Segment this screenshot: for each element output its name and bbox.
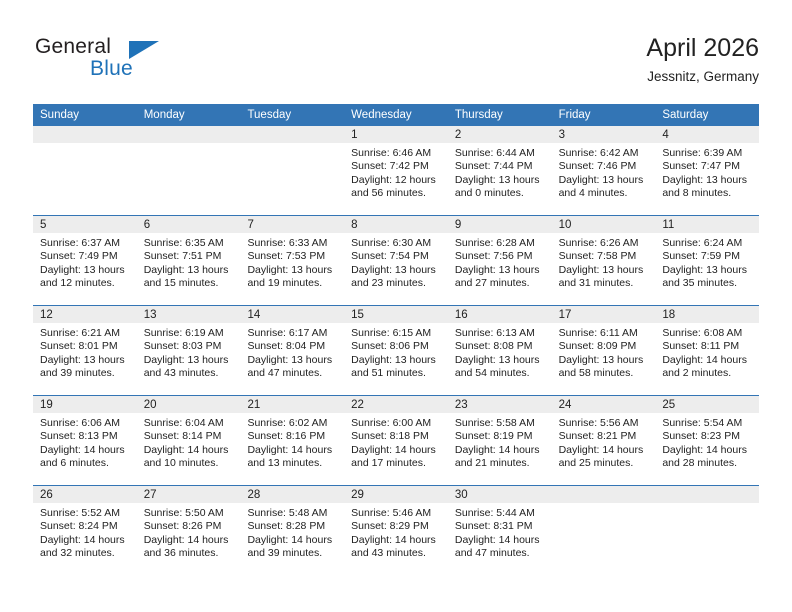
sunset-text: Sunset: 8:06 PM — [351, 340, 442, 353]
sunrise-text: Sunrise: 5:58 AM — [455, 417, 546, 430]
day-cell[interactable] — [552, 486, 656, 575]
sunset-text: Sunset: 8:09 PM — [559, 340, 650, 353]
daylight-text-line2: and 32 minutes. — [40, 547, 131, 560]
sunset-text: Sunset: 8:21 PM — [559, 430, 650, 443]
daylight-text-line2: and 36 minutes. — [144, 547, 235, 560]
sunset-text: Sunset: 7:51 PM — [144, 250, 235, 263]
daylight-text-line2: and 51 minutes. — [351, 367, 442, 380]
sunrise-text: Sunrise: 6:08 AM — [662, 327, 753, 340]
daylight-text-line2: and 56 minutes. — [351, 187, 442, 200]
day-details: Sunrise: 5:50 AM Sunset: 8:26 PM Dayligh… — [137, 503, 241, 561]
day-details: Sunrise: 5:52 AM Sunset: 8:24 PM Dayligh… — [33, 503, 137, 561]
daylight-text-line2: and 54 minutes. — [455, 367, 546, 380]
day-details — [655, 503, 759, 507]
daylight-text-line2: and 4 minutes. — [559, 187, 650, 200]
day-details — [552, 503, 656, 507]
day-details: Sunrise: 5:54 AM Sunset: 8:23 PM Dayligh… — [655, 413, 759, 471]
daylight-text-line1: Daylight: 13 hours — [40, 264, 131, 277]
day-details: Sunrise: 6:21 AM Sunset: 8:01 PM Dayligh… — [33, 323, 137, 381]
day-cell[interactable]: 16 Sunrise: 6:13 AM Sunset: 8:08 PM Dayl… — [448, 306, 552, 395]
sunrise-text: Sunrise: 6:06 AM — [40, 417, 131, 430]
daylight-text-line1: Daylight: 14 hours — [351, 534, 442, 547]
daylight-text-line1: Daylight: 13 hours — [40, 354, 131, 367]
day-details: Sunrise: 6:35 AM Sunset: 7:51 PM Dayligh… — [137, 233, 241, 291]
daylight-text-line2: and 2 minutes. — [662, 367, 753, 380]
day-number: 30 — [448, 486, 552, 503]
day-cell[interactable]: 28 Sunrise: 5:48 AM Sunset: 8:28 PM Dayl… — [240, 486, 344, 575]
day-cell[interactable]: 17 Sunrise: 6:11 AM Sunset: 8:09 PM Dayl… — [552, 306, 656, 395]
page-header: General Blue April 2026 Jessnitz, German… — [33, 33, 759, 95]
day-details: Sunrise: 6:26 AM Sunset: 7:58 PM Dayligh… — [552, 233, 656, 291]
daylight-text-line2: and 10 minutes. — [144, 457, 235, 470]
sunset-text: Sunset: 8:04 PM — [247, 340, 338, 353]
day-number — [655, 486, 759, 503]
daylight-text-line2: and 21 minutes. — [455, 457, 546, 470]
day-number: 14 — [240, 306, 344, 323]
weekday-header-monday: Monday — [137, 104, 241, 126]
sunrise-text: Sunrise: 6:33 AM — [247, 237, 338, 250]
sunrise-text: Sunrise: 6:35 AM — [144, 237, 235, 250]
page-subtitle: Jessnitz, Germany — [646, 67, 759, 87]
day-cell[interactable]: 29 Sunrise: 5:46 AM Sunset: 8:29 PM Dayl… — [344, 486, 448, 575]
sunset-text: Sunset: 8:01 PM — [40, 340, 131, 353]
day-details: Sunrise: 5:48 AM Sunset: 8:28 PM Dayligh… — [240, 503, 344, 561]
daylight-text-line2: and 39 minutes. — [247, 547, 338, 560]
sunrise-text: Sunrise: 6:00 AM — [351, 417, 442, 430]
title-block: April 2026 Jessnitz, Germany — [646, 33, 759, 87]
day-cell[interactable]: 15 Sunrise: 6:15 AM Sunset: 8:06 PM Dayl… — [344, 306, 448, 395]
sunrise-text: Sunrise: 6:21 AM — [40, 327, 131, 340]
sunrise-text: Sunrise: 6:37 AM — [40, 237, 131, 250]
day-details: Sunrise: 5:58 AM Sunset: 8:19 PM Dayligh… — [448, 413, 552, 471]
week-row: 26 Sunrise: 5:52 AM Sunset: 8:24 PM Dayl… — [33, 485, 759, 575]
sunrise-text: Sunrise: 5:56 AM — [559, 417, 650, 430]
daylight-text-line1: Daylight: 14 hours — [662, 444, 753, 457]
sunrise-text: Sunrise: 6:28 AM — [455, 237, 546, 250]
sunrise-text: Sunrise: 6:19 AM — [144, 327, 235, 340]
sunrise-text: Sunrise: 6:46 AM — [351, 147, 442, 160]
sunset-text: Sunset: 8:29 PM — [351, 520, 442, 533]
day-cell[interactable]: 22 Sunrise: 6:00 AM Sunset: 8:18 PM Dayl… — [344, 396, 448, 485]
day-number: 4 — [655, 126, 759, 143]
day-cell[interactable]: 8 Sunrise: 6:30 AM Sunset: 7:54 PM Dayli… — [344, 216, 448, 305]
day-cell[interactable] — [33, 126, 137, 215]
sunrise-text: Sunrise: 6:39 AM — [662, 147, 753, 160]
day-number: 23 — [448, 396, 552, 413]
sunset-text: Sunset: 8:31 PM — [455, 520, 546, 533]
day-number: 22 — [344, 396, 448, 413]
daylight-text-line1: Daylight: 14 hours — [455, 444, 546, 457]
day-number: 25 — [655, 396, 759, 413]
day-number: 20 — [137, 396, 241, 413]
day-details: Sunrise: 6:28 AM Sunset: 7:56 PM Dayligh… — [448, 233, 552, 291]
day-cell[interactable]: 27 Sunrise: 5:50 AM Sunset: 8:26 PM Dayl… — [137, 486, 241, 575]
daylight-text-line1: Daylight: 13 hours — [559, 174, 650, 187]
sunrise-text: Sunrise: 6:24 AM — [662, 237, 753, 250]
calendar-grid: Sunday Monday Tuesday Wednesday Thursday… — [33, 104, 759, 575]
week-row: 12 Sunrise: 6:21 AM Sunset: 8:01 PM Dayl… — [33, 305, 759, 395]
daylight-text-line1: Daylight: 14 hours — [351, 444, 442, 457]
sunset-text: Sunset: 8:18 PM — [351, 430, 442, 443]
day-details: Sunrise: 6:00 AM Sunset: 8:18 PM Dayligh… — [344, 413, 448, 471]
day-details — [240, 143, 344, 147]
day-number: 9 — [448, 216, 552, 233]
sunset-text: Sunset: 7:56 PM — [455, 250, 546, 263]
sunset-text: Sunset: 7:54 PM — [351, 250, 442, 263]
daylight-text-line1: Daylight: 13 hours — [662, 174, 753, 187]
day-details: Sunrise: 6:42 AM Sunset: 7:46 PM Dayligh… — [552, 143, 656, 201]
calendar-page: General Blue April 2026 Jessnitz, German… — [0, 0, 792, 612]
sunset-text: Sunset: 8:11 PM — [662, 340, 753, 353]
daylight-text-line1: Daylight: 14 hours — [247, 534, 338, 547]
sunrise-text: Sunrise: 6:42 AM — [559, 147, 650, 160]
day-number: 17 — [552, 306, 656, 323]
day-details: Sunrise: 6:24 AM Sunset: 7:59 PM Dayligh… — [655, 233, 759, 291]
weekday-header-tuesday: Tuesday — [240, 104, 344, 126]
weekday-header-row: Sunday Monday Tuesday Wednesday Thursday… — [33, 104, 759, 126]
daylight-text-line2: and 0 minutes. — [455, 187, 546, 200]
day-number: 18 — [655, 306, 759, 323]
day-cell[interactable]: 18 Sunrise: 6:08 AM Sunset: 8:11 PM Dayl… — [655, 306, 759, 395]
day-cell[interactable]: 3 Sunrise: 6:42 AM Sunset: 7:46 PM Dayli… — [552, 126, 656, 215]
daylight-text-line2: and 28 minutes. — [662, 457, 753, 470]
daylight-text-line2: and 15 minutes. — [144, 277, 235, 290]
day-cell[interactable]: 7 Sunrise: 6:33 AM Sunset: 7:53 PM Dayli… — [240, 216, 344, 305]
sunrise-text: Sunrise: 6:11 AM — [559, 327, 650, 340]
day-details — [137, 143, 241, 147]
sunrise-text: Sunrise: 5:46 AM — [351, 507, 442, 520]
daylight-text-line1: Daylight: 14 hours — [455, 534, 546, 547]
sunset-text: Sunset: 7:49 PM — [40, 250, 131, 263]
day-cell[interactable]: 20 Sunrise: 6:04 AM Sunset: 8:14 PM Dayl… — [137, 396, 241, 485]
day-cell[interactable]: 21 Sunrise: 6:02 AM Sunset: 8:16 PM Dayl… — [240, 396, 344, 485]
sunset-text: Sunset: 8:16 PM — [247, 430, 338, 443]
day-number: 28 — [240, 486, 344, 503]
day-cell[interactable] — [655, 486, 759, 575]
day-cell[interactable]: 24 Sunrise: 5:56 AM Sunset: 8:21 PM Dayl… — [552, 396, 656, 485]
day-cell[interactable]: 30 Sunrise: 5:44 AM Sunset: 8:31 PM Dayl… — [448, 486, 552, 575]
daylight-text-line1: Daylight: 13 hours — [351, 264, 442, 277]
day-cell[interactable] — [240, 126, 344, 215]
day-details: Sunrise: 6:30 AM Sunset: 7:54 PM Dayligh… — [344, 233, 448, 291]
day-details: Sunrise: 6:11 AM Sunset: 8:09 PM Dayligh… — [552, 323, 656, 381]
weekday-header-saturday: Saturday — [655, 104, 759, 126]
day-details: Sunrise: 6:13 AM Sunset: 8:08 PM Dayligh… — [448, 323, 552, 381]
week-row: 1 Sunrise: 6:46 AM Sunset: 7:42 PM Dayli… — [33, 126, 759, 215]
day-number: 12 — [33, 306, 137, 323]
daylight-text-line1: Daylight: 13 hours — [455, 264, 546, 277]
daylight-text-line1: Daylight: 13 hours — [559, 264, 650, 277]
sunset-text: Sunset: 8:13 PM — [40, 430, 131, 443]
day-cell[interactable]: 4 Sunrise: 6:39 AM Sunset: 7:47 PM Dayli… — [655, 126, 759, 215]
sunrise-text: Sunrise: 5:52 AM — [40, 507, 131, 520]
daylight-text-line2: and 47 minutes. — [455, 547, 546, 560]
day-number: 2 — [448, 126, 552, 143]
day-details: Sunrise: 6:39 AM Sunset: 7:47 PM Dayligh… — [655, 143, 759, 201]
day-details: Sunrise: 6:15 AM Sunset: 8:06 PM Dayligh… — [344, 323, 448, 381]
day-cell[interactable]: 2 Sunrise: 6:44 AM Sunset: 7:44 PM Dayli… — [448, 126, 552, 215]
daylight-text-line2: and 35 minutes. — [662, 277, 753, 290]
sunrise-text: Sunrise: 5:44 AM — [455, 507, 546, 520]
day-number: 7 — [240, 216, 344, 233]
day-number — [137, 126, 241, 143]
day-cell[interactable]: 23 Sunrise: 5:58 AM Sunset: 8:19 PM Dayl… — [448, 396, 552, 485]
daylight-text-line1: Daylight: 14 hours — [40, 444, 131, 457]
weekday-header-sunday: Sunday — [33, 104, 137, 126]
daylight-text-line1: Daylight: 14 hours — [247, 444, 338, 457]
sunset-text: Sunset: 7:42 PM — [351, 160, 442, 173]
day-number — [33, 126, 137, 143]
logo-text-blue: Blue — [90, 57, 133, 81]
sunrise-text: Sunrise: 6:04 AM — [144, 417, 235, 430]
day-number: 29 — [344, 486, 448, 503]
sunset-text: Sunset: 8:19 PM — [455, 430, 546, 443]
daylight-text-line2: and 58 minutes. — [559, 367, 650, 380]
daylight-text-line1: Daylight: 13 hours — [662, 264, 753, 277]
daylight-text-line1: Daylight: 13 hours — [559, 354, 650, 367]
daylight-text-line2: and 47 minutes. — [247, 367, 338, 380]
day-details: Sunrise: 6:04 AM Sunset: 8:14 PM Dayligh… — [137, 413, 241, 471]
daylight-text-line2: and 27 minutes. — [455, 277, 546, 290]
day-details: Sunrise: 6:17 AM Sunset: 8:04 PM Dayligh… — [240, 323, 344, 381]
day-cell[interactable]: 1 Sunrise: 6:46 AM Sunset: 7:42 PM Dayli… — [344, 126, 448, 215]
day-cell[interactable]: 5 Sunrise: 6:37 AM Sunset: 7:49 PM Dayli… — [33, 216, 137, 305]
daylight-text-line1: Daylight: 13 hours — [351, 354, 442, 367]
sunset-text: Sunset: 8:03 PM — [144, 340, 235, 353]
day-number: 10 — [552, 216, 656, 233]
sunrise-text: Sunrise: 6:02 AM — [247, 417, 338, 430]
day-cell[interactable]: 25 Sunrise: 5:54 AM Sunset: 8:23 PM Dayl… — [655, 396, 759, 485]
day-number: 6 — [137, 216, 241, 233]
sunset-text: Sunset: 7:58 PM — [559, 250, 650, 263]
day-number: 8 — [344, 216, 448, 233]
weekday-header-thursday: Thursday — [448, 104, 552, 126]
day-number: 26 — [33, 486, 137, 503]
sunrise-text: Sunrise: 6:30 AM — [351, 237, 442, 250]
daylight-text-line2: and 43 minutes. — [351, 547, 442, 560]
sunrise-text: Sunrise: 6:44 AM — [455, 147, 546, 160]
day-cell[interactable]: 9 Sunrise: 6:28 AM Sunset: 7:56 PM Dayli… — [448, 216, 552, 305]
daylight-text-line1: Daylight: 14 hours — [559, 444, 650, 457]
day-details: Sunrise: 5:46 AM Sunset: 8:29 PM Dayligh… — [344, 503, 448, 561]
day-details: Sunrise: 5:44 AM Sunset: 8:31 PM Dayligh… — [448, 503, 552, 561]
day-cell[interactable]: 13 Sunrise: 6:19 AM Sunset: 8:03 PM Dayl… — [137, 306, 241, 395]
day-details: Sunrise: 6:33 AM Sunset: 7:53 PM Dayligh… — [240, 233, 344, 291]
daylight-text-line1: Daylight: 13 hours — [144, 264, 235, 277]
day-cell[interactable] — [137, 126, 241, 215]
daylight-text-line1: Daylight: 13 hours — [247, 354, 338, 367]
daylight-text-line2: and 19 minutes. — [247, 277, 338, 290]
sunset-text: Sunset: 8:14 PM — [144, 430, 235, 443]
daylight-text-line2: and 12 minutes. — [40, 277, 131, 290]
day-details: Sunrise: 6:02 AM Sunset: 8:16 PM Dayligh… — [240, 413, 344, 471]
day-cell[interactable]: 14 Sunrise: 6:17 AM Sunset: 8:04 PM Dayl… — [240, 306, 344, 395]
day-details: Sunrise: 6:19 AM Sunset: 8:03 PM Dayligh… — [137, 323, 241, 381]
week-row: 5 Sunrise: 6:37 AM Sunset: 7:49 PM Dayli… — [33, 215, 759, 305]
day-details: Sunrise: 6:44 AM Sunset: 7:44 PM Dayligh… — [448, 143, 552, 201]
day-number: 27 — [137, 486, 241, 503]
daylight-text-line2: and 8 minutes. — [662, 187, 753, 200]
sunrise-text: Sunrise: 5:54 AM — [662, 417, 753, 430]
day-cell[interactable]: 11 Sunrise: 6:24 AM Sunset: 7:59 PM Dayl… — [655, 216, 759, 305]
day-cell[interactable]: 10 Sunrise: 6:26 AM Sunset: 7:58 PM Dayl… — [552, 216, 656, 305]
day-cell[interactable]: 19 Sunrise: 6:06 AM Sunset: 8:13 PM Dayl… — [33, 396, 137, 485]
sunset-text: Sunset: 7:44 PM — [455, 160, 546, 173]
day-number: 16 — [448, 306, 552, 323]
day-details: Sunrise: 6:08 AM Sunset: 8:11 PM Dayligh… — [655, 323, 759, 381]
sunset-text: Sunset: 7:53 PM — [247, 250, 338, 263]
day-number: 11 — [655, 216, 759, 233]
sunset-text: Sunset: 8:26 PM — [144, 520, 235, 533]
sunset-text: Sunset: 8:23 PM — [662, 430, 753, 443]
day-number — [240, 126, 344, 143]
sunset-text: Sunset: 7:47 PM — [662, 160, 753, 173]
day-number: 3 — [552, 126, 656, 143]
day-number: 15 — [344, 306, 448, 323]
sunrise-text: Sunrise: 6:13 AM — [455, 327, 546, 340]
day-cell[interactable]: 12 Sunrise: 6:21 AM Sunset: 8:01 PM Dayl… — [33, 306, 137, 395]
day-number: 24 — [552, 396, 656, 413]
sunset-text: Sunset: 8:08 PM — [455, 340, 546, 353]
generalblue-logo[interactable]: General Blue — [35, 35, 165, 83]
daylight-text-line2: and 13 minutes. — [247, 457, 338, 470]
sunset-text: Sunset: 8:28 PM — [247, 520, 338, 533]
day-number: 1 — [344, 126, 448, 143]
day-number: 5 — [33, 216, 137, 233]
sunrise-text: Sunrise: 6:17 AM — [247, 327, 338, 340]
triangle-icon — [129, 41, 159, 59]
daylight-text-line1: Daylight: 13 hours — [455, 174, 546, 187]
daylight-text-line1: Daylight: 13 hours — [144, 354, 235, 367]
daylight-text-line2: and 39 minutes. — [40, 367, 131, 380]
sunrise-text: Sunrise: 5:50 AM — [144, 507, 235, 520]
day-details: Sunrise: 6:06 AM Sunset: 8:13 PM Dayligh… — [33, 413, 137, 471]
daylight-text-line2: and 31 minutes. — [559, 277, 650, 290]
daylight-text-line1: Daylight: 14 hours — [662, 354, 753, 367]
day-number: 21 — [240, 396, 344, 413]
daylight-text-line1: Daylight: 12 hours — [351, 174, 442, 187]
sunrise-text: Sunrise: 6:26 AM — [559, 237, 650, 250]
daylight-text-line1: Daylight: 13 hours — [247, 264, 338, 277]
daylight-text-line1: Daylight: 14 hours — [40, 534, 131, 547]
sunrise-text: Sunrise: 6:15 AM — [351, 327, 442, 340]
week-row: 19 Sunrise: 6:06 AM Sunset: 8:13 PM Dayl… — [33, 395, 759, 485]
daylight-text-line2: and 25 minutes. — [559, 457, 650, 470]
sunset-text: Sunset: 7:46 PM — [559, 160, 650, 173]
daylight-text-line1: Daylight: 13 hours — [455, 354, 546, 367]
daylight-text-line1: Daylight: 14 hours — [144, 534, 235, 547]
weekday-header-friday: Friday — [552, 104, 656, 126]
day-number — [552, 486, 656, 503]
page-title: April 2026 — [646, 33, 759, 63]
day-number: 13 — [137, 306, 241, 323]
daylight-text-line2: and 43 minutes. — [144, 367, 235, 380]
day-details: Sunrise: 6:37 AM Sunset: 7:49 PM Dayligh… — [33, 233, 137, 291]
sunset-text: Sunset: 7:59 PM — [662, 250, 753, 263]
day-details: Sunrise: 6:46 AM Sunset: 7:42 PM Dayligh… — [344, 143, 448, 201]
sunrise-text: Sunrise: 5:48 AM — [247, 507, 338, 520]
day-cell[interactable]: 26 Sunrise: 5:52 AM Sunset: 8:24 PM Dayl… — [33, 486, 137, 575]
day-number: 19 — [33, 396, 137, 413]
daylight-text-line2: and 23 minutes. — [351, 277, 442, 290]
logo-text-general: General — [35, 35, 111, 59]
day-details — [33, 143, 137, 147]
weekday-header-wednesday: Wednesday — [344, 104, 448, 126]
daylight-text-line1: Daylight: 14 hours — [144, 444, 235, 457]
day-cell[interactable]: 6 Sunrise: 6:35 AM Sunset: 7:51 PM Dayli… — [137, 216, 241, 305]
sunset-text: Sunset: 8:24 PM — [40, 520, 131, 533]
daylight-text-line2: and 17 minutes. — [351, 457, 442, 470]
daylight-text-line2: and 6 minutes. — [40, 457, 131, 470]
day-details: Sunrise: 5:56 AM Sunset: 8:21 PM Dayligh… — [552, 413, 656, 471]
